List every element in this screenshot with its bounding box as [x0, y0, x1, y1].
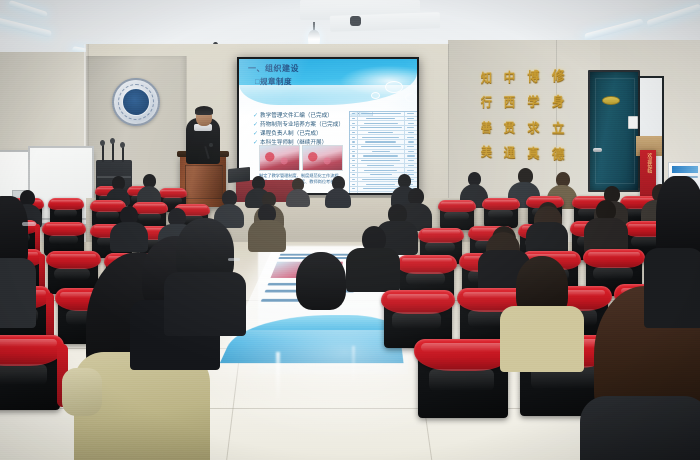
microphone-stand [112, 142, 114, 162]
slide-subtitle: □规章制度 [255, 76, 292, 87]
emblem-ring [118, 84, 154, 120]
slide-bullet: ✓ 课程负责人制（已完成） [253, 129, 322, 137]
podium-microphone-head [209, 143, 213, 147]
calligraphy-character: 知 [476, 65, 497, 89]
door-handle-icon[interactable] [593, 148, 602, 152]
slide-photo-strip [259, 145, 343, 171]
calligraphy-character: 贯 [499, 115, 521, 139]
seat[interactable] [484, 200, 518, 228]
eyeglasses-icon [228, 258, 240, 261]
slide-bubble [371, 92, 380, 99]
calligraphy-character: 善 [476, 115, 497, 138]
slide-bubble [405, 93, 417, 102]
lecture-hall-photo: 一、组织建设 □规章制度 ✓ 教学管理文件汇编（已完成） ✓ 药物制剂专业培养方… [0, 0, 700, 460]
slide-photo [259, 145, 300, 171]
calligraphy-character: 通 [499, 140, 521, 164]
microphone-head [120, 142, 125, 148]
slide-bubble [385, 81, 403, 93]
calligraphy-character: 行 [476, 90, 497, 113]
presentation-slide: 一、组织建设 □规章制度 ✓ 教学管理文件汇编（已完成） ✓ 药物制剂专业培养方… [239, 59, 417, 193]
microphone-stand [102, 144, 104, 162]
slide-bullet-text: 课程负责人制（已完成） [260, 129, 322, 137]
slide-bullet-text: 教学管理文件汇编（已完成） [260, 111, 333, 119]
calligraphy-character: 中 [499, 64, 521, 88]
light-switch[interactable] [628, 116, 638, 129]
projector-mount [350, 16, 361, 26]
projection-screen: 一、组织建设 □规章制度 ✓ 教学管理文件汇编（已完成） ✓ 药物制剂专业培养方… [237, 57, 419, 195]
check-icon: ✓ [253, 121, 258, 128]
shoulder-bag [62, 368, 102, 416]
university-emblem-icon [112, 78, 160, 126]
slide-title: 一、组织建设 [248, 64, 299, 74]
door-sign-icon [602, 96, 620, 105]
calligraphy-character: 美 [476, 140, 497, 164]
calligraphy-character: 真 [522, 140, 545, 164]
calligraphy-character: 立 [547, 115, 570, 140]
calligraphy-character: 修 [547, 62, 570, 87]
slide-photo [302, 145, 343, 171]
calligraphy-character: 博 [522, 63, 545, 87]
lectern-panel [185, 165, 223, 199]
calligraphy-character: 求 [522, 115, 545, 139]
floor-light-streak [352, 346, 355, 384]
calligraphy-character: 身 [547, 89, 570, 114]
check-icon: ✓ [253, 112, 258, 119]
seat[interactable] [440, 202, 474, 230]
slide-bullet-text: 药物制剂专业培养方案（已完成） [260, 120, 344, 128]
banner-text: 欢迎莅临 [645, 153, 652, 173]
seat[interactable] [0, 340, 60, 410]
slide-bullet: ✓ 药物制剂专业培养方案（已完成） [253, 120, 344, 128]
floor-light-streak [276, 352, 280, 404]
calligraphy-character: 西 [499, 89, 521, 113]
calligraphy-character: 德 [547, 141, 570, 166]
presenter-hair [195, 106, 213, 115]
poster-header [672, 166, 698, 173]
eyeglasses-icon [22, 222, 36, 226]
slide-bullet: ✓ 教学管理文件汇编（已完成） [253, 111, 333, 119]
seat[interactable] [418, 344, 508, 418]
hall-door[interactable] [588, 70, 640, 192]
door-panel [595, 78, 635, 184]
wall-calligraphy-grid: 知 中 博 修 行 西 学 身 善 贯 求 立 美 通 真 德 [476, 62, 570, 166]
check-icon: ✓ [253, 139, 258, 146]
check-icon: ✓ [253, 130, 258, 137]
calligraphy-character: 学 [522, 89, 545, 113]
microphone-stand [122, 146, 124, 162]
microphone-head [110, 138, 115, 144]
laptop[interactable] [228, 167, 250, 183]
microphone-head [100, 140, 105, 146]
